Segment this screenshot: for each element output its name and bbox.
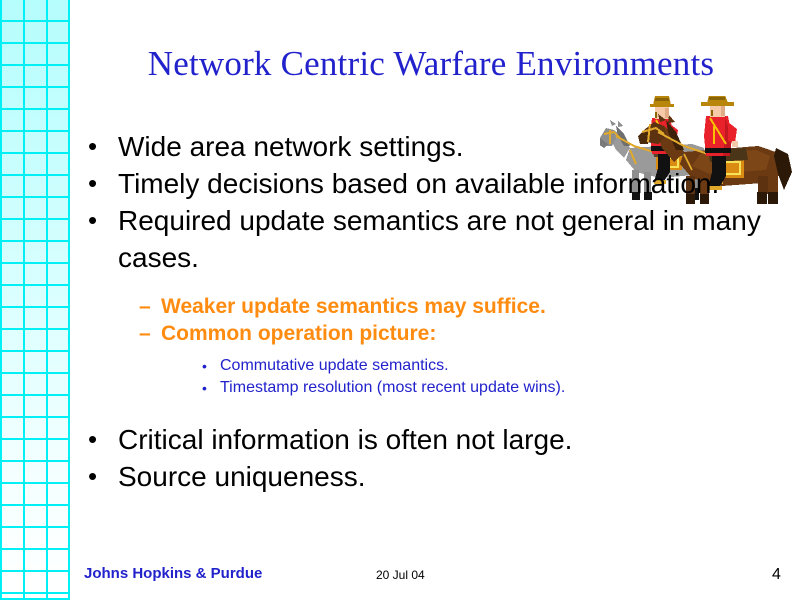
grid-border-decoration	[0, 0, 70, 600]
bullet-text: Timely decisions based on available info…	[118, 165, 788, 202]
bullet-text: Commutative update semantics.	[220, 355, 449, 377]
bullet-marker: •	[88, 458, 118, 495]
bullet-level3: • Commutative update semantics.	[202, 355, 788, 377]
bullet-marker: •	[88, 165, 118, 202]
bullet-marker: •	[202, 377, 220, 399]
bullet-marker: •	[88, 202, 118, 239]
bullet-marker: •	[88, 421, 118, 458]
slide-body: • Wide area network settings. • Timely d…	[88, 128, 788, 495]
bullet-text: Weaker update semantics may suffice.	[161, 293, 546, 320]
bullet-marker: •	[88, 128, 118, 165]
bullet-marker: •	[202, 355, 220, 377]
bullet-marker: –	[139, 320, 161, 347]
bullet-text: Source uniqueness.	[118, 458, 788, 495]
bullet-level1: • Timely decisions based on available in…	[88, 165, 788, 202]
bullet-text: Timestamp resolution (most recent update…	[220, 377, 565, 399]
bullet-level2: – Weaker update semantics may suffice.	[139, 293, 788, 320]
bullet-level1: • Critical information is often not larg…	[88, 421, 788, 458]
bullet-level1: • Wide area network settings.	[88, 128, 788, 165]
bullet-text: Required update semantics are not genera…	[118, 202, 788, 276]
grid-right-edge	[68, 0, 70, 600]
bullet-group-level1-bottom: • Critical information is often not larg…	[88, 421, 788, 495]
footer-organization: Johns Hopkins & Purdue	[84, 565, 262, 582]
sub-bullet-group-level3: • Commutative update semantics. • Timest…	[202, 355, 788, 399]
bullet-marker: –	[139, 293, 161, 320]
page-title: Network Centric Warfare Environments	[70, 44, 792, 84]
footer-page-number: 4	[772, 566, 781, 584]
bullet-level3: • Timestamp resolution (most recent upda…	[202, 377, 788, 399]
presentation-slide: Network Centric Warfare Environments	[0, 0, 800, 600]
footer-date: 20 Jul 04	[376, 568, 425, 582]
bullet-text: Common operation picture:	[161, 320, 436, 347]
bullet-level2: – Common operation picture:	[139, 320, 788, 347]
bullet-level1: • Source uniqueness.	[88, 458, 788, 495]
bullet-level1: • Required update semantics are not gene…	[88, 202, 788, 276]
grid-lines	[0, 0, 70, 600]
bullet-text: Wide area network settings.	[118, 128, 788, 165]
bullet-text: Critical information is often not large.	[118, 421, 788, 458]
sub-bullet-group-level2: – Weaker update semantics may suffice. –…	[139, 293, 788, 347]
